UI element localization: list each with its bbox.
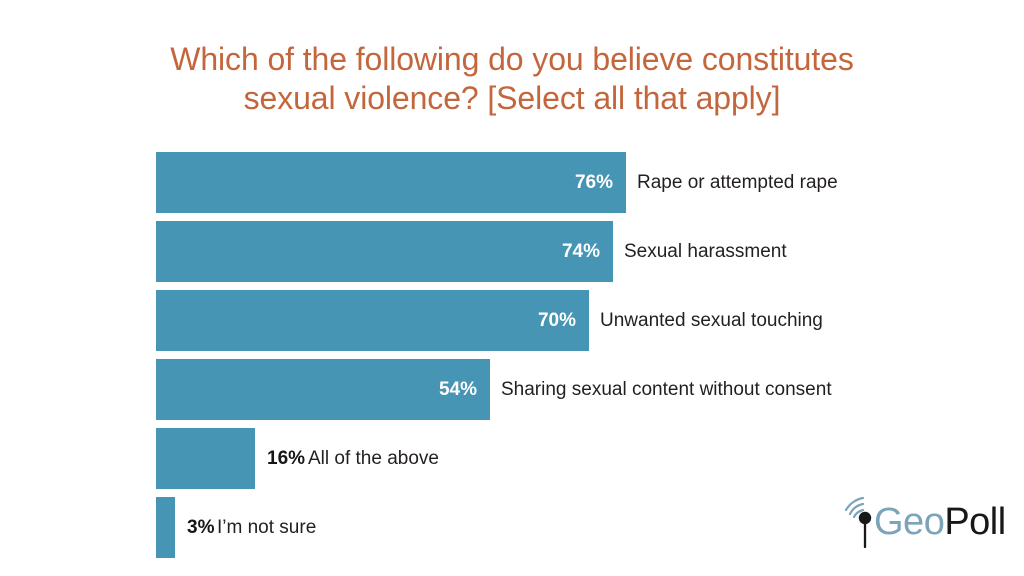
bar-row: 74%Sexual harassment — [156, 221, 936, 282]
bar-category-label: Sexual harassment — [624, 221, 787, 282]
bar-category-label: Unwanted sexual touching — [600, 290, 823, 351]
geopoll-wordmark-geo: Geo — [874, 501, 944, 543]
geopoll-wordmark-poll: Poll — [944, 501, 1005, 543]
bar-value-label: 70% — [156, 290, 589, 351]
bar-value-label: 74% — [156, 221, 613, 282]
bar-row: 54%Sharing sexual content without consen… — [156, 359, 936, 420]
bar-row: 70%Unwanted sexual touching — [156, 290, 936, 351]
bar-category-label: All of the above — [267, 428, 439, 489]
bar-row: 76%Rape or attempted rape — [156, 152, 936, 213]
bar-row: 3%I’m not sure — [156, 497, 936, 558]
bar-value-label: 76% — [156, 152, 626, 213]
chart-title: Which of the following do you believe co… — [80, 40, 944, 118]
bar-category-label: I’m not sure — [187, 497, 316, 558]
slide-canvas: Which of the following do you believe co… — [0, 0, 1024, 576]
geopoll-wordmark: GeoPoll — [874, 500, 1006, 544]
bar-segment — [156, 428, 255, 489]
bar-segment — [156, 497, 175, 558]
geopoll-logo: GeoPoll — [838, 494, 1014, 552]
bar-row: 16%All of the above — [156, 428, 936, 489]
bar-category-label: Rape or attempted rape — [637, 152, 838, 213]
bar-category-label: Sharing sexual content without consent — [501, 359, 832, 420]
bar-chart-plot-area: 76%Rape or attempted rape74%Sexual haras… — [156, 152, 936, 544]
bar-value-label: 54% — [156, 359, 490, 420]
